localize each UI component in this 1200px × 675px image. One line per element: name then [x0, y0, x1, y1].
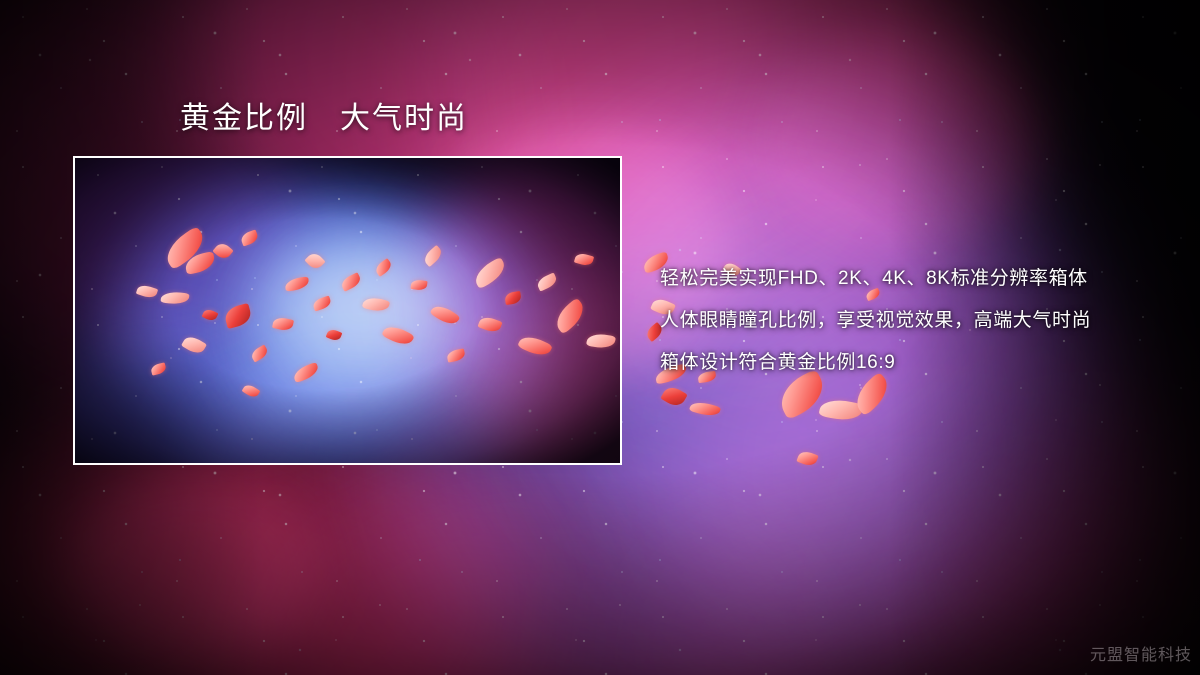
featured-image-frame[interactable]: [73, 156, 622, 465]
presentation-slide: 黄金比例 大气时尚 轻松完美实现FHD、2K、4K、8K标准分辨率箱体 人体眼睛…: [0, 0, 1200, 675]
description-line-1: 轻松完美实现FHD、2K、4K、8K标准分辨率箱体: [660, 258, 1180, 300]
watermark-brand: 元盟智能科技: [1090, 641, 1192, 665]
description-text-block: 轻松完美实现FHD、2K、4K、8K标准分辨率箱体 人体眼睛瞳孔比例，享受视觉效…: [660, 258, 1180, 384]
frame-inner-scene: [75, 158, 620, 463]
description-line-2: 人体眼睛瞳孔比例，享受视觉效果，高端大气时尚: [660, 300, 1180, 342]
page-title: 黄金比例 大气时尚: [180, 100, 468, 138]
description-line-3: 箱体设计符合黄金比例16:9: [660, 342, 1180, 384]
